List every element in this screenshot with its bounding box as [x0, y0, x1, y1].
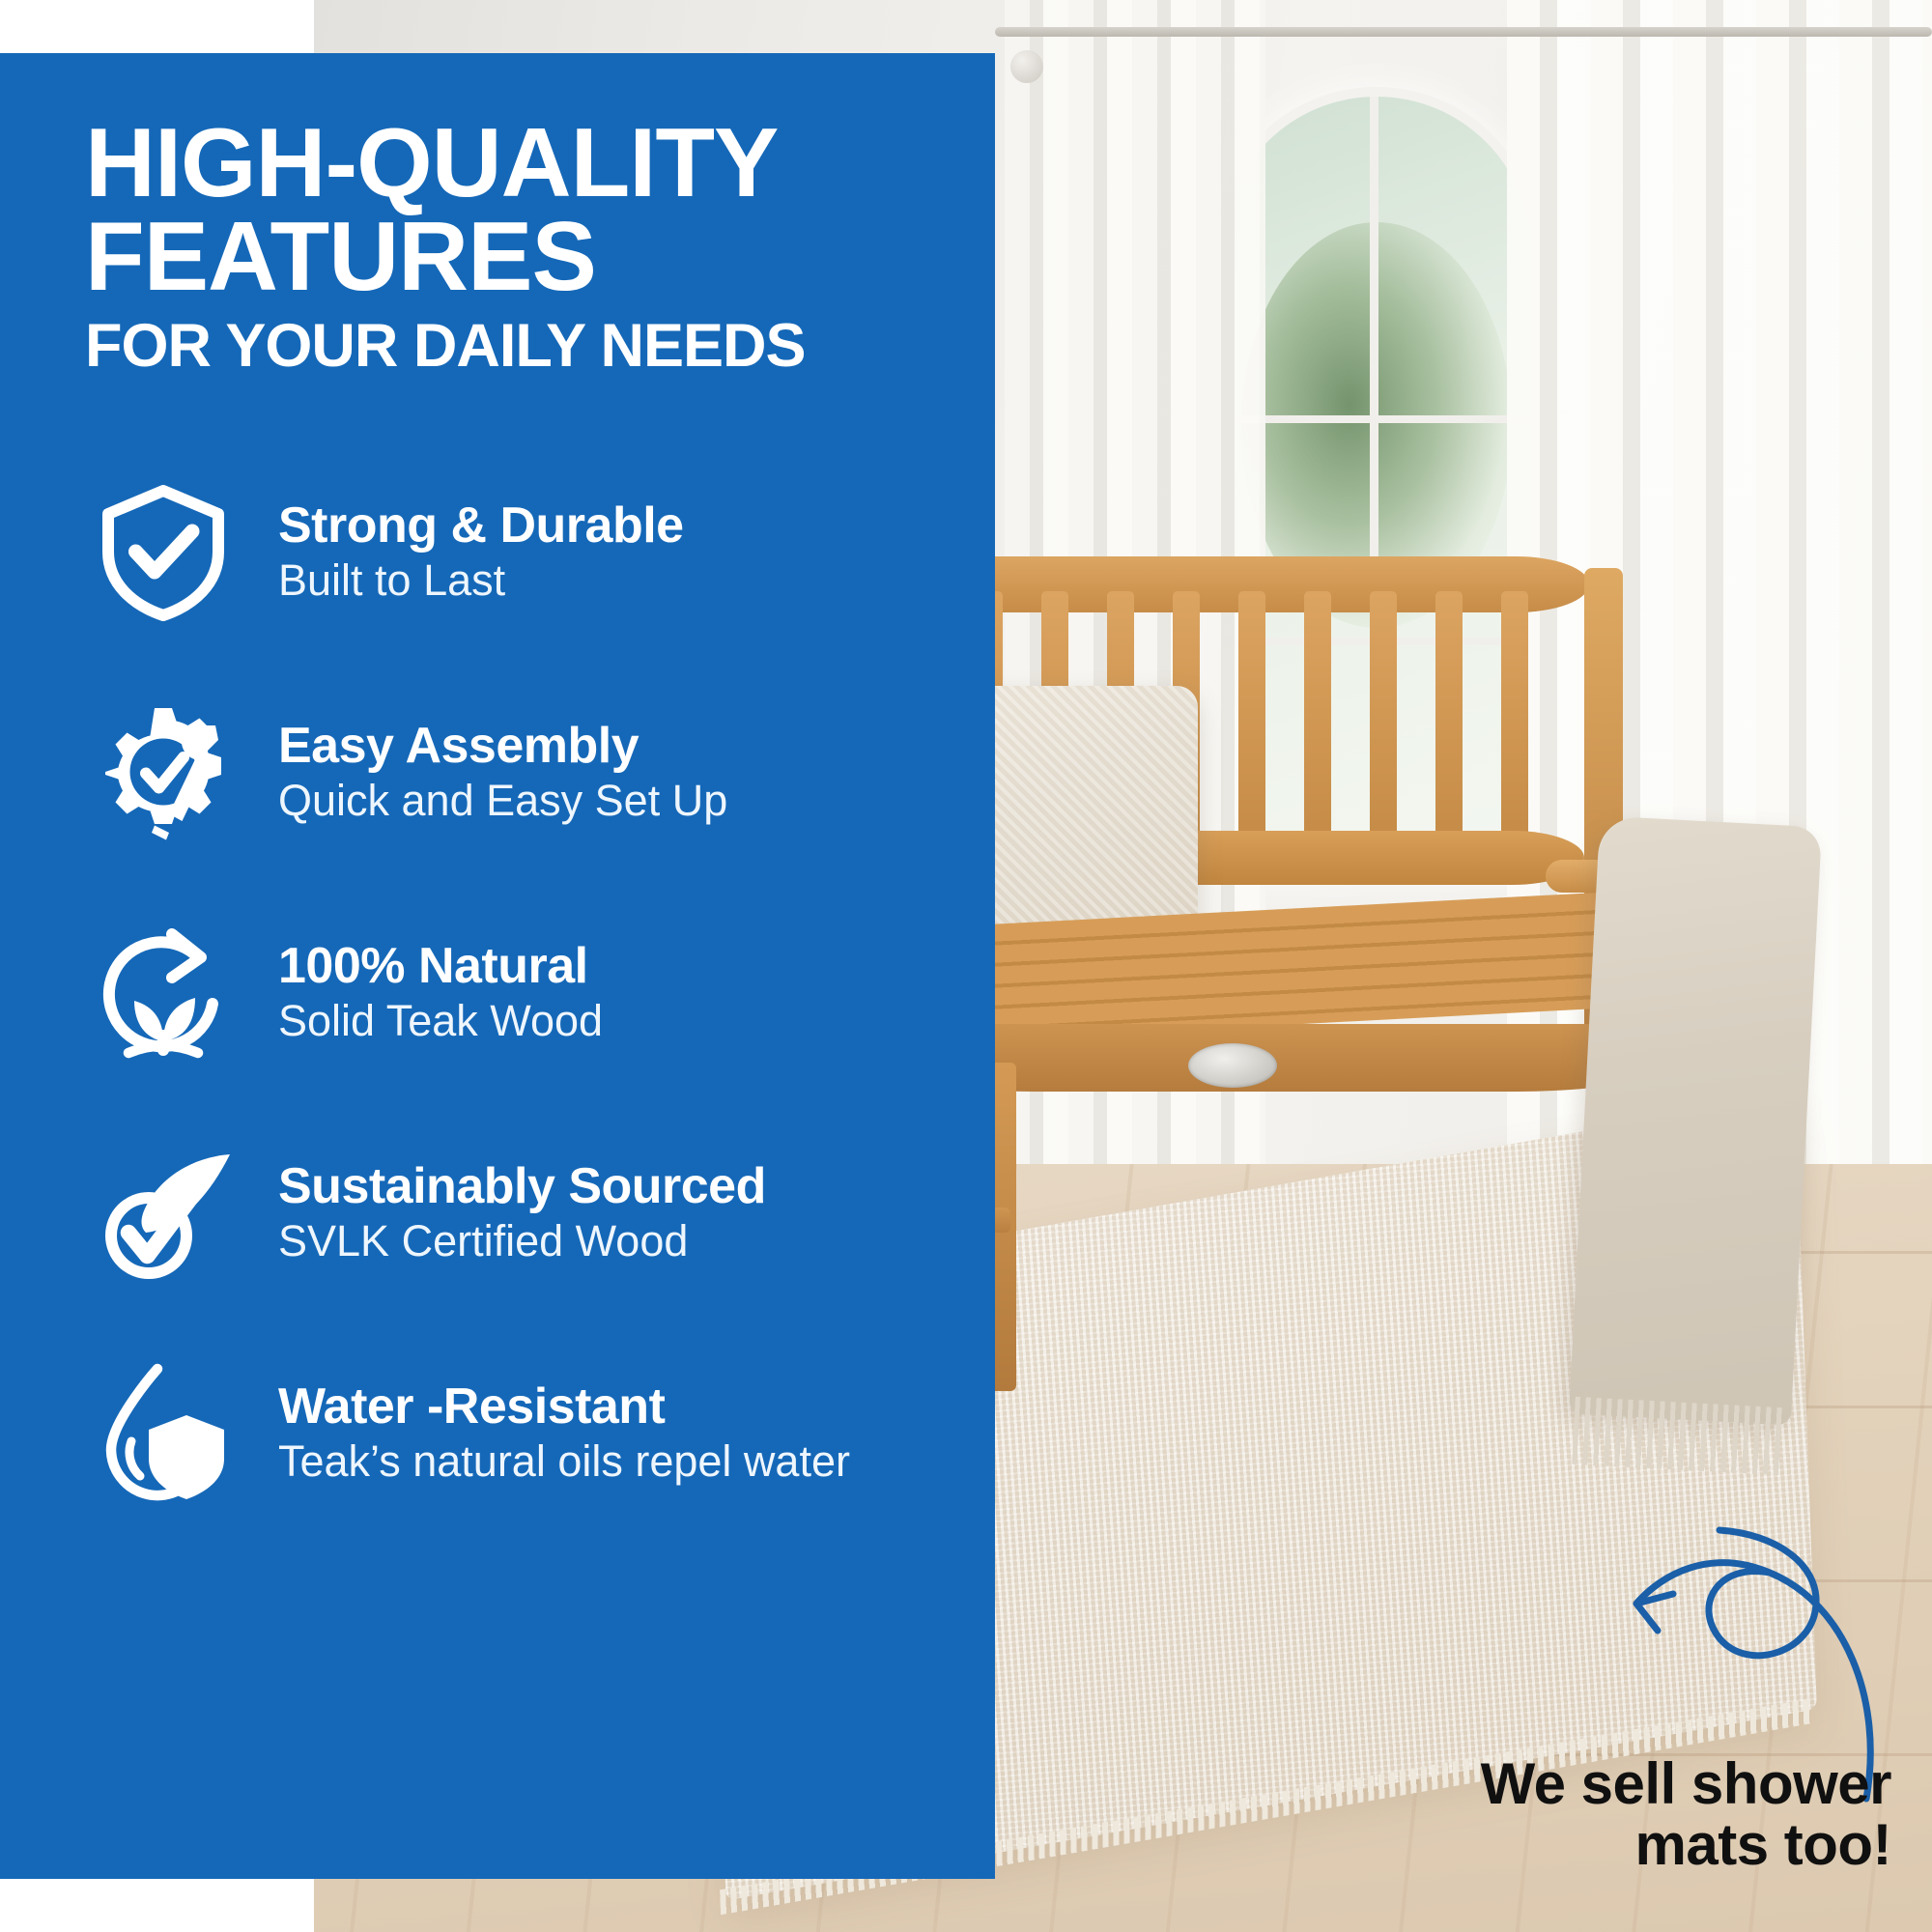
- feature-text: Water -Resistant Teak’s natural oils rep…: [278, 1380, 951, 1486]
- curtain-rod-knob: [1010, 50, 1043, 83]
- feature-text: 100% Natural Solid Teak Wood: [278, 940, 951, 1045]
- feature-subtitle: Solid Teak Wood: [278, 997, 951, 1045]
- feature-subtitle: Built to Last: [278, 556, 951, 605]
- title-line-2: FEATURES: [85, 211, 956, 304]
- feature-subtitle: Teak’s natural oils repel water: [278, 1437, 951, 1486]
- curtain-rod: [995, 27, 1932, 37]
- feature-title: Water -Resistant: [278, 1380, 951, 1434]
- shield-check-icon: [81, 469, 245, 634]
- feature-title: 100% Natural: [278, 940, 951, 993]
- window-mullion-horizontal-1: [1219, 415, 1538, 423]
- callout-line-1: We sell shower: [1350, 1753, 1891, 1815]
- feature-text: Sustainably Sourced SVLK Certified Wood: [278, 1160, 951, 1265]
- recycle-sprout-icon: [81, 910, 245, 1074]
- feature-item-100-natural: 100% Natural Solid Teak Wood: [0, 905, 995, 1079]
- water-drop-shield-icon: [81, 1350, 245, 1515]
- callout-line-2: mats too!: [1350, 1814, 1891, 1876]
- feature-item-easy-assembly: Easy Assembly Quick and Easy Set Up: [0, 685, 995, 859]
- brand-badge: [1188, 1043, 1277, 1088]
- feature-item-water-resistant: Water -Resistant Teak’s natural oils rep…: [0, 1346, 995, 1520]
- gear-wrench-check-icon: [81, 690, 245, 854]
- page-subtitle: FOR YOUR DAILY NEEDS: [85, 310, 956, 382]
- feature-item-strong-durable: Strong & Durable Built to Last: [0, 465, 995, 639]
- page-title: HIGH-QUALITY FEATURES FOR YOUR DAILY NEE…: [0, 117, 995, 382]
- feature-list: Strong & Durable Built to Last Easy Asse…: [0, 465, 995, 1520]
- feature-item-sustainably-sourced: Sustainably Sourced SVLK Certified Wood: [0, 1125, 995, 1299]
- feature-title: Strong & Durable: [278, 499, 951, 553]
- feature-text: Easy Assembly Quick and Easy Set Up: [278, 720, 951, 825]
- features-panel: HIGH-QUALITY FEATURES FOR YOUR DAILY NEE…: [0, 53, 995, 1879]
- feature-title: Sustainably Sourced: [278, 1160, 951, 1213]
- feature-subtitle: SVLK Certified Wood: [278, 1217, 951, 1265]
- knit-throw-blanket: [1569, 815, 1822, 1425]
- feature-title: Easy Assembly: [278, 720, 951, 773]
- title-line-1: HIGH-QUALITY: [85, 117, 956, 211]
- feature-text: Strong & Durable Built to Last: [278, 499, 951, 605]
- shower-mats-callout: We sell shower mats too!: [1350, 1753, 1891, 1876]
- feature-subtitle: Quick and Easy Set Up: [278, 777, 951, 825]
- leaf-check-circle-icon: [81, 1130, 245, 1294]
